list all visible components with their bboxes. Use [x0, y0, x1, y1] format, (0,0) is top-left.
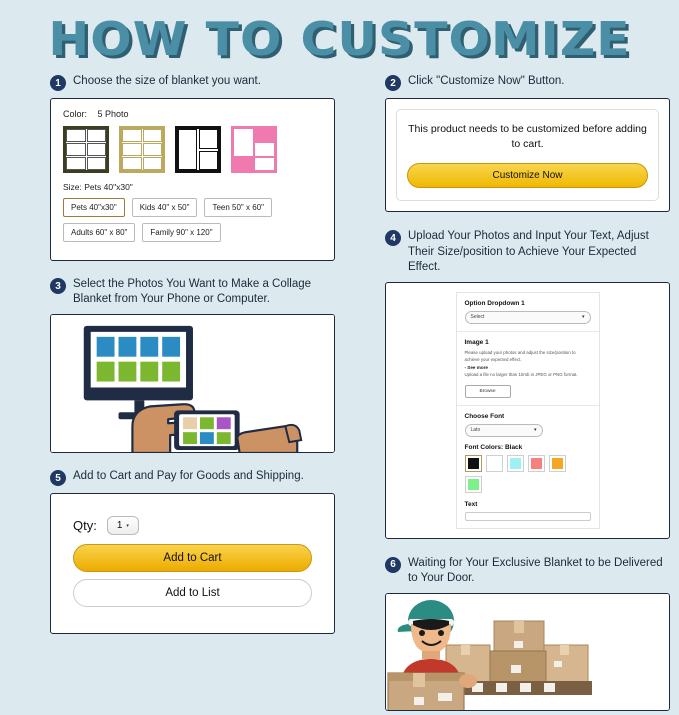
- size-option-kids[interactable]: Kids 40" x 50": [132, 198, 198, 217]
- size-option-teen[interactable]: Teen 50" x 60": [204, 198, 272, 217]
- quantity-value: 1: [117, 520, 123, 531]
- swatch-black[interactable]: [465, 455, 482, 472]
- font-value: Lato: [471, 427, 481, 433]
- option-dropdown-value: Select: [471, 314, 485, 320]
- chevron-down-icon: ▾: [126, 523, 129, 529]
- text-input[interactable]: [465, 512, 591, 521]
- cell: [199, 151, 218, 171]
- browse-button[interactable]: Browse: [465, 385, 511, 398]
- image-upload-section: Image 1 Please upload your photos and ad…: [457, 332, 599, 406]
- upload-size-note: Upload a file no larger than 10mb in JPE…: [465, 372, 591, 379]
- customize-now-button[interactable]: Customize Now: [407, 163, 648, 188]
- infographic-page: HOW TO CUSTOMIZE 1 Choose the size of bl…: [0, 0, 679, 679]
- size-option-pets[interactable]: Pets 40"x30": [63, 198, 125, 217]
- step-6-badge: 6: [385, 557, 401, 573]
- right-column: 2 Click "Customize Now" Button. This pro…: [385, 74, 670, 715]
- collage-thumb-black[interactable]: [175, 126, 221, 173]
- customizer-form-card: Option Dropdown 1 Select ▾ Image 1 Pleas…: [385, 282, 670, 539]
- cell: [122, 143, 142, 156]
- swatch-fill: [552, 458, 563, 469]
- collage-thumb-pink[interactable]: [231, 126, 277, 173]
- customize-prompt-box: This product needs to be customized befo…: [396, 109, 659, 201]
- page-title: HOW TO CUSTOMIZE: [0, 12, 679, 66]
- cell: [255, 158, 274, 170]
- step-3: 3 Select the Photos You Want to Make a C…: [50, 277, 335, 453]
- font-colors-title: Font Colors: Black: [465, 444, 591, 451]
- cell: [255, 129, 274, 141]
- step-3-header: 3 Select the Photos You Want to Make a C…: [50, 277, 335, 307]
- font-color-swatches: [465, 455, 591, 472]
- step-1-header: 1 Choose the size of blanket you want.: [50, 74, 335, 91]
- add-to-cart-button[interactable]: Add to Cart: [73, 544, 312, 572]
- step-1-text: Choose the size of blanket you want.: [73, 74, 261, 89]
- step-5: 5 Add to Cart and Pay for Goods and Ship…: [50, 469, 335, 634]
- cell: [143, 143, 163, 156]
- photo-selection-illustration-card: [50, 314, 335, 453]
- step-2-badge: 2: [385, 75, 401, 91]
- quantity-row: Qty: 1 ▾: [73, 516, 312, 535]
- cell: [143, 129, 163, 142]
- swatch-white[interactable]: [486, 455, 503, 472]
- cell: [143, 157, 163, 170]
- customize-message: This product needs to be customized befo…: [407, 122, 648, 152]
- cart-card: Qty: 1 ▾ Add to Cart Add to List: [50, 493, 335, 634]
- cell: [66, 157, 86, 170]
- step-5-text: Add to Cart and Pay for Goods and Shippi…: [73, 469, 304, 484]
- swatch-cyan[interactable]: [507, 455, 524, 472]
- option-dropdown-title: Option Dropdown 1: [465, 300, 591, 307]
- step-5-badge: 5: [50, 470, 66, 486]
- collage-thumbnails: [63, 126, 322, 173]
- size-option-adults[interactable]: Adults 60" x 80": [63, 223, 135, 242]
- swatch-green[interactable]: [465, 476, 482, 493]
- quantity-label: Qty:: [73, 518, 97, 533]
- image-upload-description: Please upload your photos and adjust the…: [465, 350, 591, 363]
- option-dropdown-select[interactable]: Select ▾: [465, 311, 591, 324]
- option-dropdown-section: Option Dropdown 1 Select ▾: [457, 293, 599, 332]
- choose-font-title: Choose Font: [465, 413, 591, 420]
- cell: [122, 129, 142, 142]
- size-row-2: Adults 60" x 80" Family 90" x 120": [63, 223, 322, 242]
- color-label-row: Color: 5 Photo: [63, 109, 322, 119]
- color-label: Color:: [63, 109, 87, 119]
- see-more-link[interactable]: - See more: [465, 365, 591, 370]
- step-4-header: 4 Upload Your Photos and Input Your Text…: [385, 229, 670, 275]
- size-row-1: Pets 40"x30" Kids 40" x 50" Teen 50" x 6…: [63, 198, 322, 217]
- step-1: 1 Choose the size of blanket you want. C…: [50, 74, 335, 261]
- chevron-down-icon: ▾: [582, 314, 585, 320]
- font-color-swatches-row2: [465, 476, 591, 493]
- cell: [178, 129, 197, 170]
- step-4-text: Upload Your Photos and Input Your Text, …: [408, 229, 670, 275]
- chevron-down-icon: ▾: [534, 427, 537, 433]
- step-2: 2 Click "Customize Now" Button. This pro…: [385, 74, 670, 212]
- quantity-stepper[interactable]: 1 ▾: [107, 516, 139, 535]
- step-3-badge: 3: [50, 278, 66, 294]
- step-4: 4 Upload Your Photos and Input Your Text…: [385, 229, 670, 538]
- cell: [87, 143, 107, 156]
- customizer-form: Option Dropdown 1 Select ▾ Image 1 Pleas…: [456, 292, 600, 529]
- cell: [87, 157, 107, 170]
- step-4-badge: 4: [385, 230, 401, 246]
- image-section-title: Image 1: [465, 339, 591, 346]
- cell: [255, 143, 274, 155]
- swatch-orange[interactable]: [549, 455, 566, 472]
- font-section: Choose Font Lato ▾ Font Colors: Black: [457, 406, 599, 528]
- step-6-header: 6 Waiting for Your Exclusive Blanket to …: [385, 556, 670, 586]
- cell: [87, 129, 107, 142]
- collage-thumb-gold[interactable]: [119, 126, 165, 173]
- color-value: 5 Photo: [98, 109, 129, 119]
- swatch-fill: [531, 458, 542, 469]
- size-selector-card: Color: 5 Photo: [50, 98, 335, 261]
- delivery-man-illustration: [386, 594, 669, 710]
- cell: [199, 129, 218, 149]
- cell: [234, 129, 253, 156]
- step-5-header: 5 Add to Cart and Pay for Goods and Ship…: [50, 469, 335, 486]
- computer-phone-illustration: [51, 315, 334, 453]
- step-6-text: Waiting for Your Exclusive Blanket to be…: [408, 556, 670, 586]
- text-field-title: Text: [465, 501, 591, 508]
- collage-thumb-olive[interactable]: [63, 126, 109, 173]
- cell: [122, 157, 142, 170]
- step-1-badge: 1: [50, 75, 66, 91]
- size-option-family[interactable]: Family 90" x 120": [142, 223, 220, 242]
- add-to-list-button[interactable]: Add to List: [73, 579, 312, 607]
- step-2-header: 2 Click "Customize Now" Button.: [385, 74, 670, 91]
- step-3-text: Select the Photos You Want to Make a Col…: [73, 277, 335, 307]
- delivery-illustration-card: [385, 593, 670, 711]
- cell: [66, 129, 86, 142]
- swatch-fill: [510, 458, 521, 469]
- step-2-text: Click "Customize Now" Button.: [408, 74, 564, 89]
- swatch-fill: [468, 458, 479, 469]
- cell: [234, 158, 253, 170]
- size-label: Size: Pets 40"x30": [63, 182, 322, 192]
- customize-now-card: This product needs to be customized befo…: [385, 98, 670, 212]
- font-select[interactable]: Lato ▾: [465, 424, 543, 437]
- swatch-fill: [489, 458, 500, 469]
- swatch-fill: [468, 479, 479, 490]
- cell: [66, 143, 86, 156]
- step-6: 6 Waiting for Your Exclusive Blanket to …: [385, 556, 670, 711]
- left-column: 1 Choose the size of blanket you want. C…: [50, 74, 335, 638]
- swatch-salmon[interactable]: [528, 455, 545, 472]
